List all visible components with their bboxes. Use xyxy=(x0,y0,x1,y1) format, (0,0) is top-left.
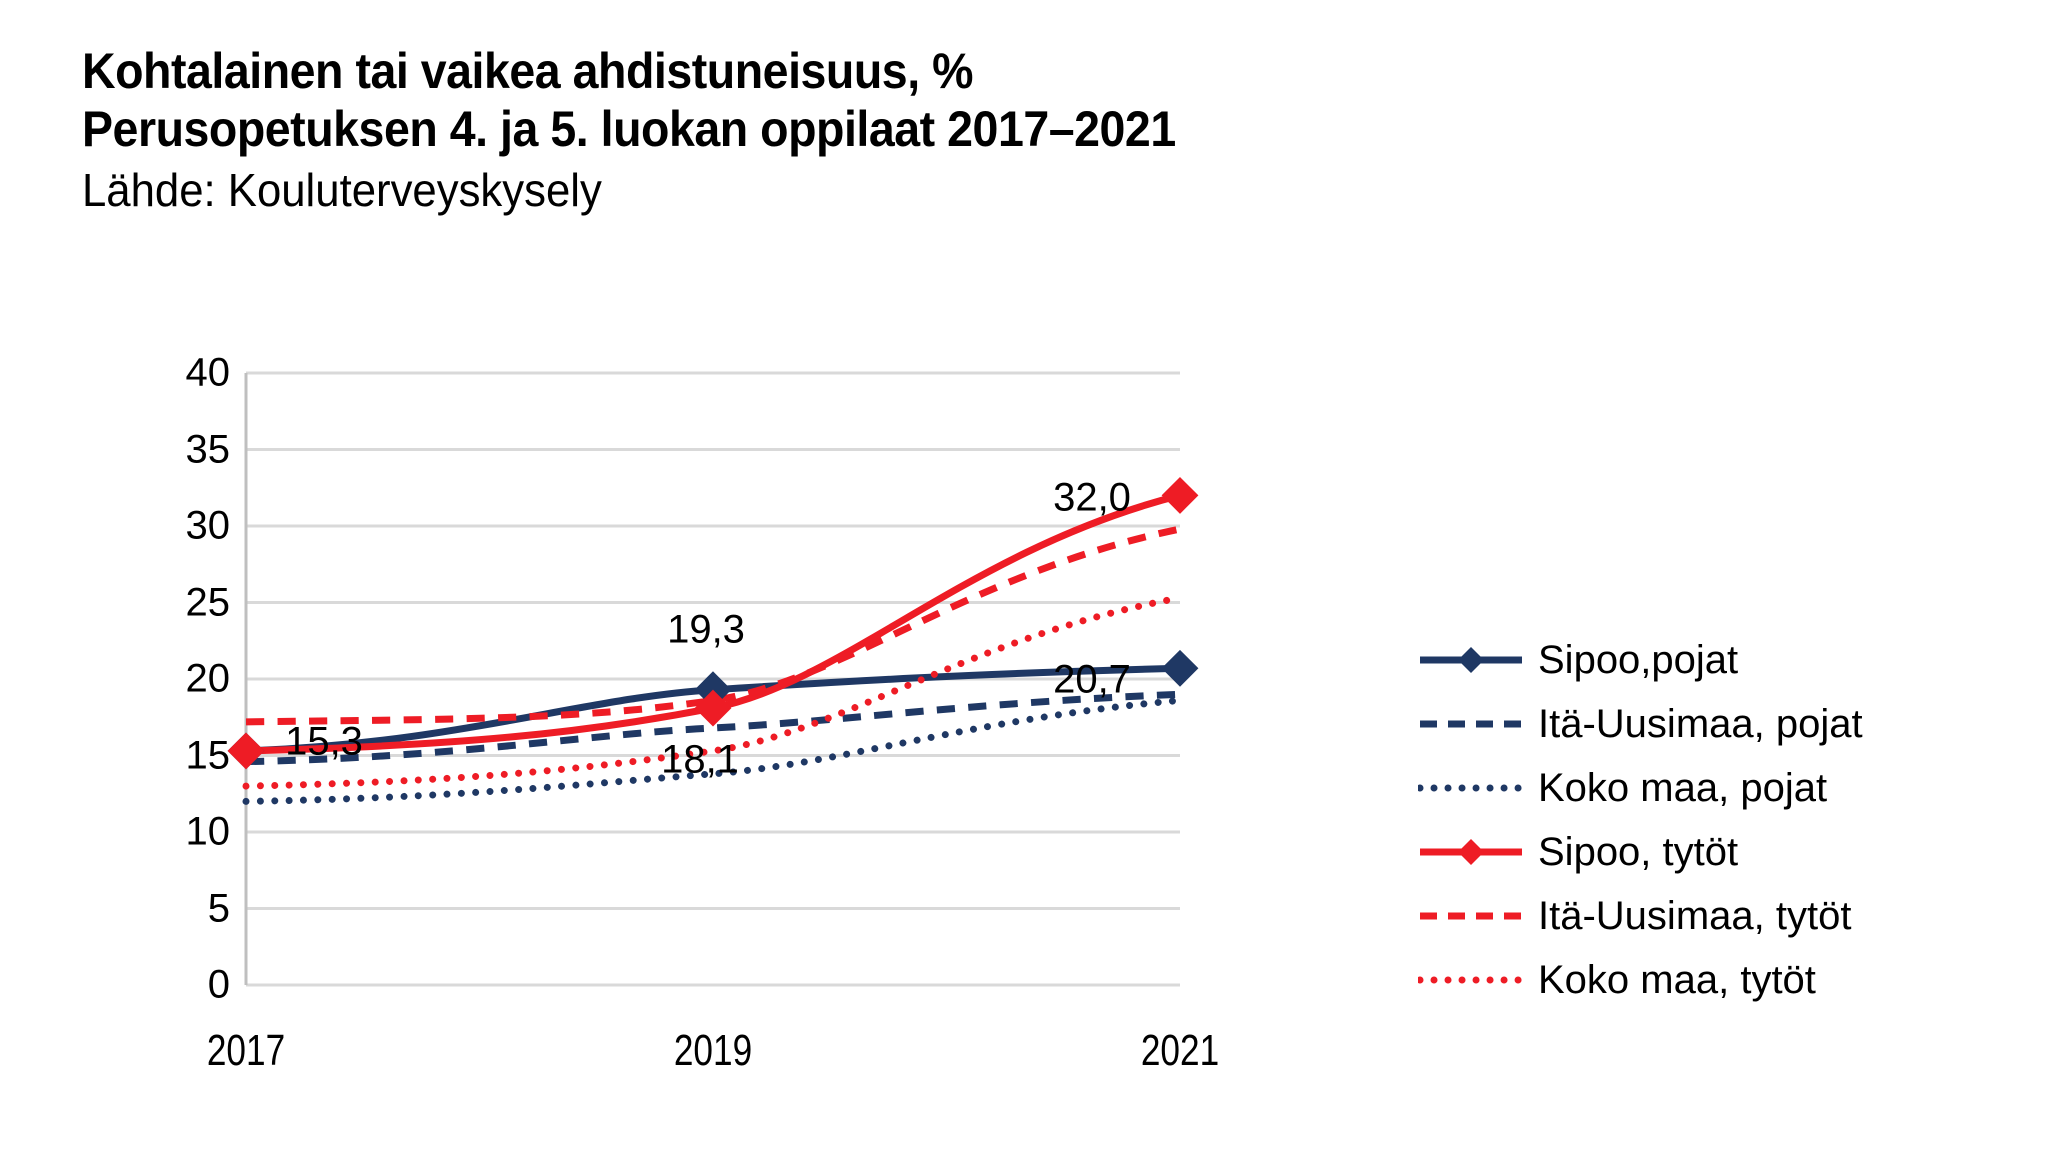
y-axis-tick-label: 15 xyxy=(120,733,230,778)
legend-line-icon xyxy=(1418,963,1524,997)
legend-swatch-dashed-icon xyxy=(1418,899,1524,933)
legend-item-label: Koko maa, pojat xyxy=(1538,766,1827,810)
legend-item[interactable]: Koko maa, tytöt xyxy=(1418,948,2018,1012)
x-axis-tick-label: 2021 xyxy=(1141,1026,1219,1076)
legend-line-icon xyxy=(1418,835,1524,869)
legend-swatch-dashed-icon xyxy=(1418,707,1524,741)
legend-line-icon xyxy=(1418,899,1524,933)
data-point-marker xyxy=(1163,478,1197,512)
y-axis-tick-labels: 4035302520151050 xyxy=(120,0,230,1160)
data-point-label: 18,1 xyxy=(661,738,739,783)
legend-item-label: Itä-Uusimaa, pojat xyxy=(1538,702,1863,746)
chart-figure: Kohtalainen tai vaikea ahdistuneisuus, %… xyxy=(0,0,2048,1160)
legend-swatch-solid-icon xyxy=(1418,835,1524,869)
x-axis-tick-label: 2017 xyxy=(207,1026,285,1076)
y-axis-tick-label: 5 xyxy=(120,886,230,931)
y-axis-tick-label: 35 xyxy=(120,427,230,472)
legend-item-label: Sipoo,pojat xyxy=(1538,638,1738,682)
y-axis-tick-label: 0 xyxy=(120,963,230,1008)
legend-item[interactable]: Itä-Uusimaa, pojat xyxy=(1418,692,2018,756)
y-axis-tick-label: 40 xyxy=(120,351,230,396)
legend-line-icon xyxy=(1418,643,1524,677)
data-point-label: 19,3 xyxy=(667,608,745,653)
data-point-label: 32,0 xyxy=(1053,476,1131,521)
data-point-label: 15,3 xyxy=(285,720,363,765)
y-axis-tick-label: 25 xyxy=(120,580,230,625)
y-axis-tick-label: 10 xyxy=(120,810,230,855)
y-axis-tick-label: 20 xyxy=(120,657,230,702)
legend-swatch-dotted-icon xyxy=(1418,771,1524,805)
legend-diamond-icon xyxy=(1458,647,1484,673)
legend-item[interactable]: Koko maa, pojat xyxy=(1418,756,2018,820)
legend-item[interactable]: Sipoo, tytöt xyxy=(1418,820,2018,884)
legend-line-icon xyxy=(1418,707,1524,741)
legend-item[interactable]: Itä-Uusimaa, tytöt xyxy=(1418,884,2018,948)
legend-swatch-solid-icon xyxy=(1418,643,1524,677)
legend-line-icon xyxy=(1418,771,1524,805)
data-point-label: 20,7 xyxy=(1053,658,1131,703)
chart-legend: Sipoo,pojatItä-Uusimaa, pojatKoko maa, p… xyxy=(1418,628,2018,1012)
legend-item-label: Sipoo, tytöt xyxy=(1538,830,1738,874)
legend-diamond-icon xyxy=(1458,839,1484,865)
x-axis-tick-label: 2019 xyxy=(674,1026,752,1076)
legend-swatch-dotted-icon xyxy=(1418,963,1524,997)
legend-item-label: Itä-Uusimaa, tytöt xyxy=(1538,894,1851,938)
legend-item-label: Koko maa, tytöt xyxy=(1538,958,1816,1002)
y-axis-tick-label: 30 xyxy=(120,504,230,549)
legend-item[interactable]: Sipoo,pojat xyxy=(1418,628,2018,692)
